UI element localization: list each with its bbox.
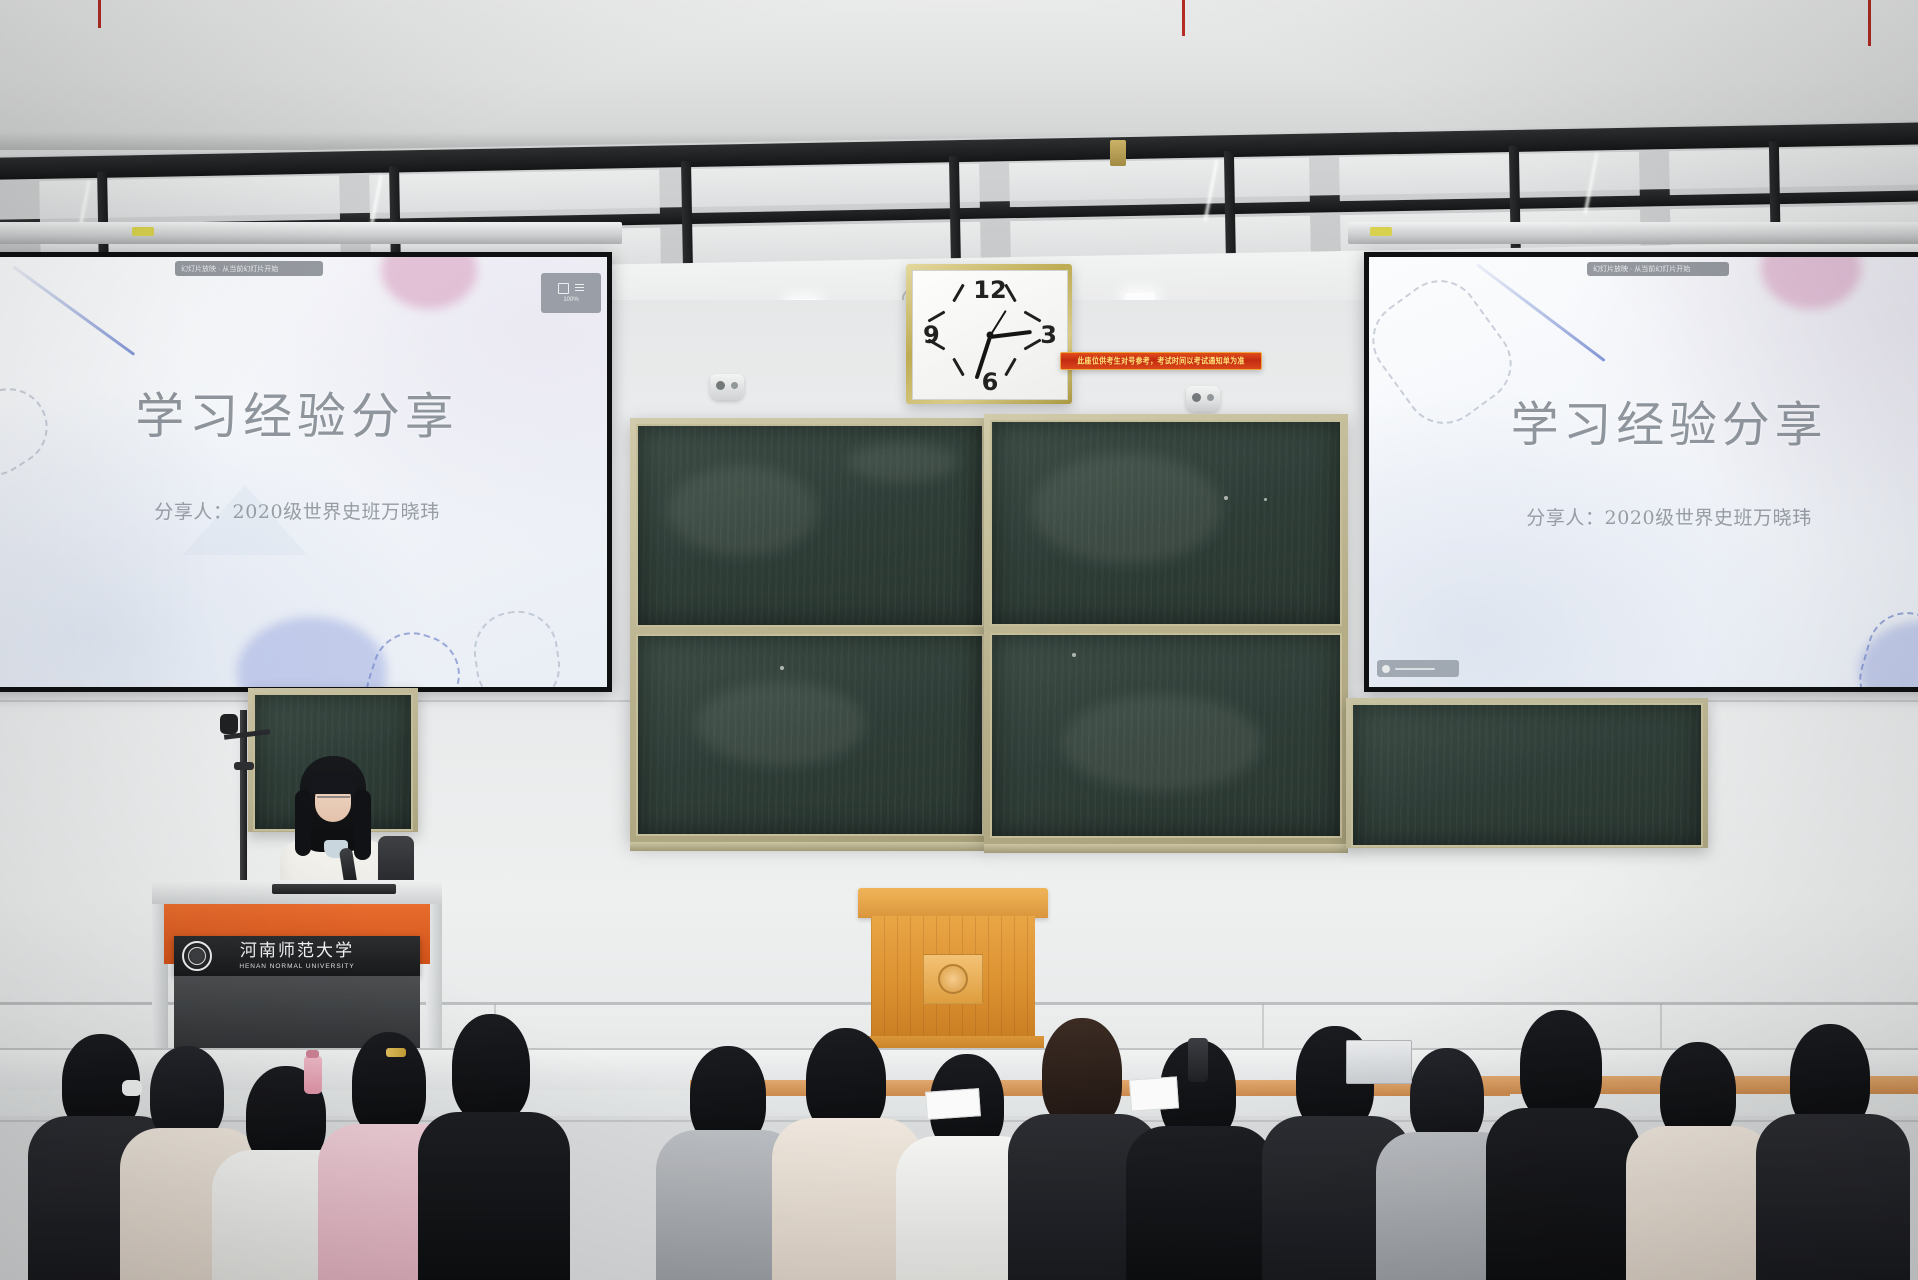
chalkboard-right (984, 414, 1348, 844)
hanging-red-cord (1868, 0, 1871, 46)
wall-clock: 12 3 6 9 (906, 264, 1072, 404)
ceiling-sensor (1186, 386, 1220, 412)
laptop[interactable] (1346, 1040, 1412, 1084)
audience-head (1042, 1018, 1122, 1128)
university-seal-icon (182, 941, 212, 971)
slide-blob-pink (1761, 252, 1861, 309)
screen-housing-endcap (132, 227, 154, 236)
chalk-smudge (668, 466, 818, 556)
chalkboard-wing-right (1346, 698, 1708, 848)
university-name-cn: 河南师范大学 (240, 943, 354, 960)
microphone-stand[interactable] (228, 710, 278, 890)
clock-tick (1024, 338, 1042, 350)
slide-canvas: 学习经验分享 分享人：2020级世界史班万晓玮 幻灯片放映 · 从当前幻灯片开始… (0, 257, 607, 687)
water-bottle (304, 1056, 322, 1094)
slide-canvas: 学习经验分享 分享人：2020级世界史班万晓玮 幻灯片放映 · 从当前幻灯片开始 (1369, 257, 1918, 687)
view-mode-icons (558, 283, 584, 294)
ceiling-panel (689, 164, 980, 213)
audience-shoulders (1126, 1126, 1274, 1280)
chalk-mark (1224, 496, 1228, 500)
university-name-en: HENAN NORMAL UNIVERSITY (239, 963, 354, 970)
chalk-smudge (696, 682, 866, 766)
clock-tick (1004, 358, 1017, 377)
audience-shoulders (1626, 1126, 1774, 1280)
list-view-icon (575, 283, 584, 292)
slide-blob-periwinkle (237, 617, 387, 692)
audience-shoulders (418, 1112, 570, 1280)
powerpoint-toolbar[interactable]: 幻灯片放映 · 从当前幻灯片开始 (1587, 262, 1729, 276)
lectern-desktop-edge (272, 884, 396, 894)
screen-housing (0, 222, 622, 244)
chalkboard-panel (990, 420, 1342, 626)
slide-diagonal-line (12, 265, 135, 356)
audience-head (1520, 1010, 1602, 1122)
powerpoint-toolbar-label: 幻灯片放映 · 从当前幻灯片开始 (1593, 264, 1690, 274)
slide-subtitle: 分享人：2020级世界史班万晓玮 (1369, 503, 1918, 530)
grid-view-icon (558, 283, 569, 294)
audience-area (0, 1020, 1918, 1280)
sprinkler-head (1110, 140, 1126, 166)
chalkboard-panel (1351, 703, 1703, 847)
chalk-tray (984, 844, 1348, 853)
exam-notice-banner: 此座位供考生对号参考，考试时间以考试通知单为准 (1060, 352, 1262, 370)
clock-tick (952, 358, 965, 377)
mic-stand-head (220, 714, 238, 734)
chalkboard-panel (990, 633, 1342, 839)
powerpoint-status-pill[interactable] (1377, 660, 1459, 677)
chalk-mark (1072, 653, 1076, 657)
chalkboard-left (630, 418, 990, 842)
exam-notice-banner-text: 此座位供考生对号参考，考试时间以考试通知单为准 (1077, 355, 1244, 367)
status-bar (1395, 668, 1435, 670)
hanging-red-cord (98, 0, 101, 28)
paper-sheet (925, 1088, 981, 1120)
powerpoint-view-badge[interactable]: 100% (541, 273, 601, 313)
zoom-percent-label: 100% (563, 297, 578, 303)
right-screen-surface[interactable]: 学习经验分享 分享人：2020级世界史班万晓玮 幻灯片放映 · 从当前幻灯片开始 (1364, 252, 1918, 692)
slide-blob-pink (381, 252, 477, 309)
chalk-mark (780, 666, 784, 670)
bottle-cap (306, 1050, 319, 1058)
screen-housing-endcap (1370, 227, 1392, 236)
clock-numeral-12: 12 (973, 278, 1006, 302)
chalkboard-right-panels (990, 420, 1342, 838)
screen-housing (1348, 222, 1918, 244)
chalkboard-panel (636, 424, 984, 627)
chalk-tray (630, 842, 990, 851)
audience-shoulders (1486, 1108, 1640, 1280)
clock-face: 12 3 6 9 (912, 270, 1068, 400)
chalkboard-panel (636, 634, 984, 837)
audience-shoulders (1756, 1114, 1910, 1280)
powerpoint-toolbar[interactable]: 幻灯片放映 · 从当前幻灯片开始 (175, 261, 323, 276)
lecture-hall-photo: 学习经验分享 分享人：2020级世界史班万晓玮 幻灯片放映 · 从当前幻灯片开始… (0, 0, 1918, 1280)
slide-dashed-shape (469, 606, 566, 692)
chalk-smudge (1062, 695, 1262, 791)
face-mask (122, 1080, 142, 1096)
ceiling-panel (369, 170, 660, 219)
ceiling-sensor (710, 374, 744, 400)
chalk-mark (1264, 498, 1267, 501)
hair-clip (386, 1048, 406, 1057)
thermos-bottle (1188, 1038, 1208, 1082)
slide-subtitle: 分享人：2020级世界史班万晓玮 (0, 497, 607, 524)
ceiling-panel (1009, 158, 1310, 207)
paper-sheet (1129, 1076, 1179, 1111)
chalkboard-left-panels (636, 424, 984, 836)
powerpoint-toolbar-label: 幻灯片放映 · 从当前幻灯片开始 (181, 264, 278, 274)
podium-seal-icon (938, 964, 968, 994)
slide-title: 学习经验分享 (0, 377, 607, 448)
ceiling-cross-beam (1224, 151, 1236, 261)
podium-emblem-panel (923, 954, 983, 1004)
university-nameplate: 河南师范大学 HENAN NORMAL UNIVERSITY (174, 936, 420, 976)
presenter-glasses (317, 796, 350, 806)
chalk-smudge (1032, 454, 1222, 564)
left-screen-surface[interactable]: 学习经验分享 分享人：2020级世界史班万晓玮 幻灯片放映 · 从当前幻灯片开始… (0, 252, 612, 692)
status-dot-icon (1382, 665, 1390, 673)
clock-numeral-3: 3 (1040, 323, 1057, 347)
ceiling-panel (1669, 146, 1918, 195)
audience-head (452, 1014, 530, 1122)
right-projection-screen[interactable]: 学习经验分享 分享人：2020级世界史班万晓玮 幻灯片放映 · 从当前幻灯片开始 (1348, 222, 1918, 702)
clock-center-pin (987, 332, 994, 339)
clock-minute-hand (990, 330, 1032, 339)
clock-tick (952, 284, 965, 303)
left-projection-screen[interactable]: 学习经验分享 分享人：2020级世界史班万晓玮 幻灯片放映 · 从当前幻灯片开始… (0, 222, 622, 702)
presenter-bangs (309, 774, 357, 794)
podium-top-surface (858, 888, 1048, 918)
clock-numeral-6: 6 (982, 370, 999, 394)
mic-stand-knob[interactable] (234, 762, 254, 770)
ceiling-cross-beam (949, 156, 961, 266)
chalk-smudge (848, 442, 958, 482)
slide-title: 学习经验分享 (1369, 385, 1918, 455)
hanging-red-cord (1182, 0, 1185, 36)
ceiling-cross-beam (681, 161, 693, 271)
clock-tick (1024, 310, 1042, 322)
slide-dashed-shape (1850, 603, 1918, 692)
